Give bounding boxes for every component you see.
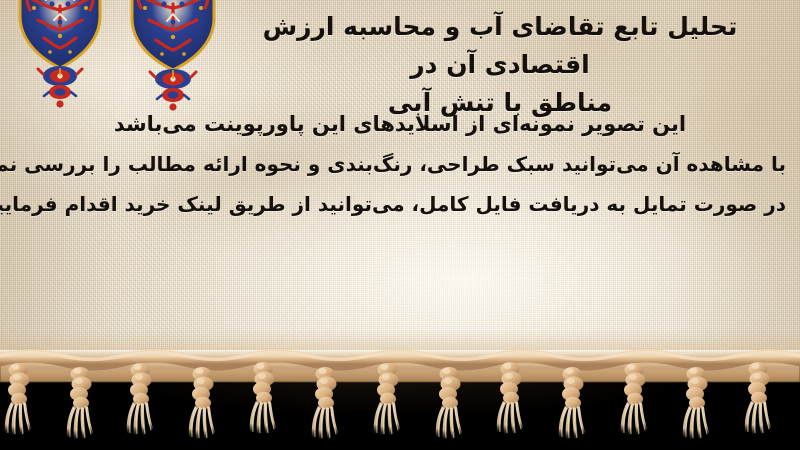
slide-canvas: تحلیل تابع تقاضای آب و محاسبه ارزش اقتصا… xyxy=(0,0,800,450)
slide-body-line-1: این تصویر نمونه‌ای از اسلایدهای این پاور… xyxy=(14,104,786,144)
slide-body-line-2: با مشاهده آن می‌توانید سبک طراحی، رنگ‌بن… xyxy=(14,144,786,184)
slide-body-line-3: در صورت تمایل به دریافت فایل کامل، می‌تو… xyxy=(14,184,786,224)
text-layer: تحلیل تابع تقاضای آب و محاسبه ارزش اقتصا… xyxy=(0,0,800,378)
carpet-fringe-tassels-icon xyxy=(0,344,800,450)
slide-body: این تصویر نمونه‌ای از اسلایدهای این پاور… xyxy=(14,104,786,224)
slide-title-line-1: تحلیل تابع تقاضای آب و محاسبه ارزش اقتصا… xyxy=(220,8,780,84)
